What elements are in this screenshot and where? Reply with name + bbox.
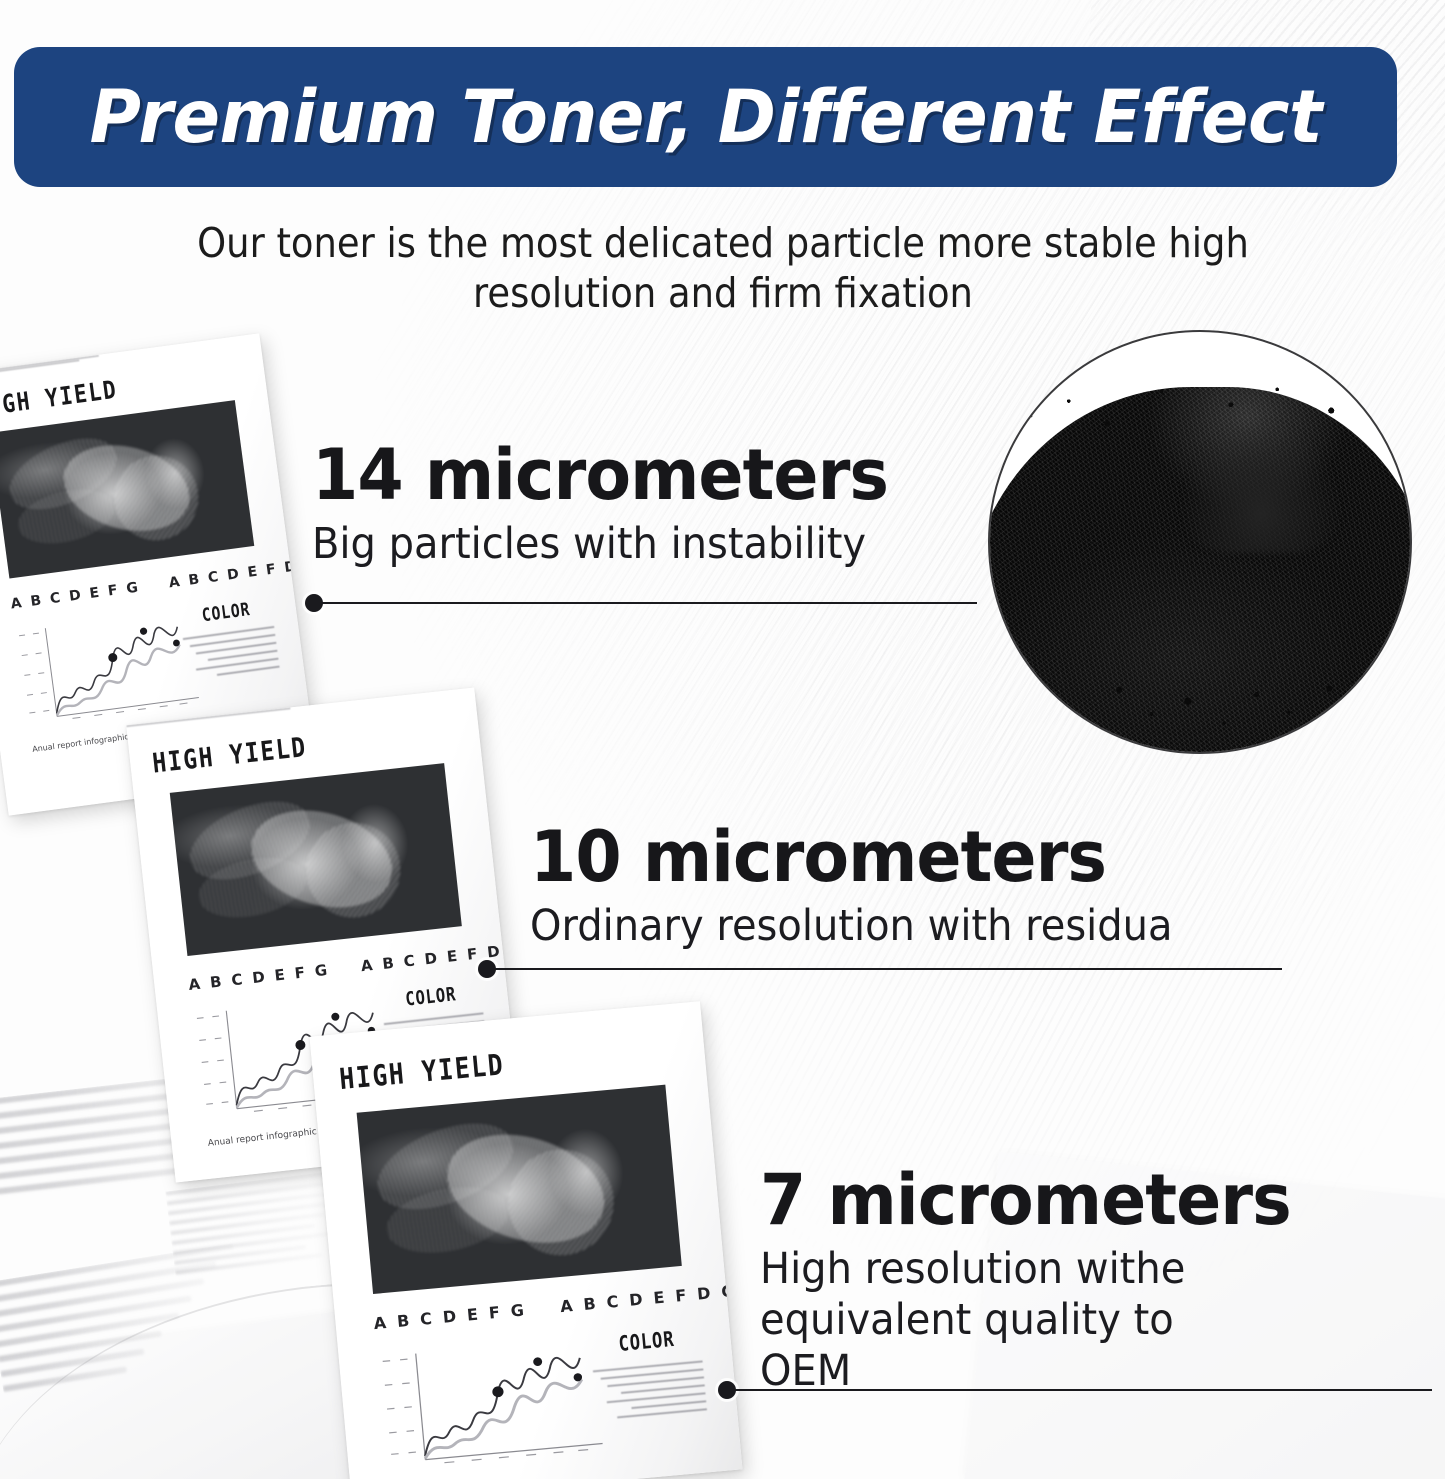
page-title: Premium Toner, Different Effect	[89, 75, 1321, 160]
toner-powder-photo	[988, 330, 1412, 754]
paper-line-chart	[374, 1330, 609, 1479]
blurred-newspaper-text	[0, 1243, 252, 1401]
toner-scatter-bottom	[998, 660, 1401, 736]
infographic-canvas: Premium Toner, Different Effect Our tone…	[0, 0, 1445, 1479]
paper-photo	[357, 1085, 682, 1294]
callout-10-micrometers: 10 micrometers Ordinary resolution with …	[530, 822, 1221, 952]
callout-14-micrometers: 14 micrometers Big particles with instab…	[312, 440, 918, 570]
connector-rule	[727, 1389, 1432, 1391]
paper-photo	[170, 763, 462, 956]
callout-value: 10 micrometers	[530, 822, 1186, 893]
header-banner: Premium Toner, Different Effect	[14, 47, 1397, 187]
printed-sample-paper: HIGH YIELD ABCDEFG ABCDEFDG	[310, 1001, 743, 1479]
callout-description: Ordinary resolution with residua	[530, 901, 1173, 952]
toner-scatter-top	[1007, 374, 1393, 433]
callout-description: Big particles with instability	[312, 519, 876, 570]
paper-color-heading: COLOR	[618, 1327, 676, 1356]
paper-color-text-lines	[593, 1360, 708, 1426]
connector-rule	[487, 968, 1282, 970]
callout-connector-line	[478, 967, 1282, 971]
callout-value: 7 micrometers	[760, 1165, 1291, 1236]
callout-value: 14 micrometers	[312, 440, 888, 511]
callout-description: High resolution withe equivalent quality…	[760, 1244, 1244, 1396]
paper-line-chart	[12, 603, 205, 738]
subtitle-text: Our toner is the most delicated particle…	[155, 218, 1291, 318]
callout-7-micrometers: 7 micrometers High resolution withe equi…	[760, 1165, 1319, 1397]
connector-rule	[314, 602, 977, 604]
callout-connector-line	[305, 601, 977, 605]
callout-connector-line	[718, 1388, 1432, 1392]
toner-peak-highlight	[1181, 421, 1341, 552]
